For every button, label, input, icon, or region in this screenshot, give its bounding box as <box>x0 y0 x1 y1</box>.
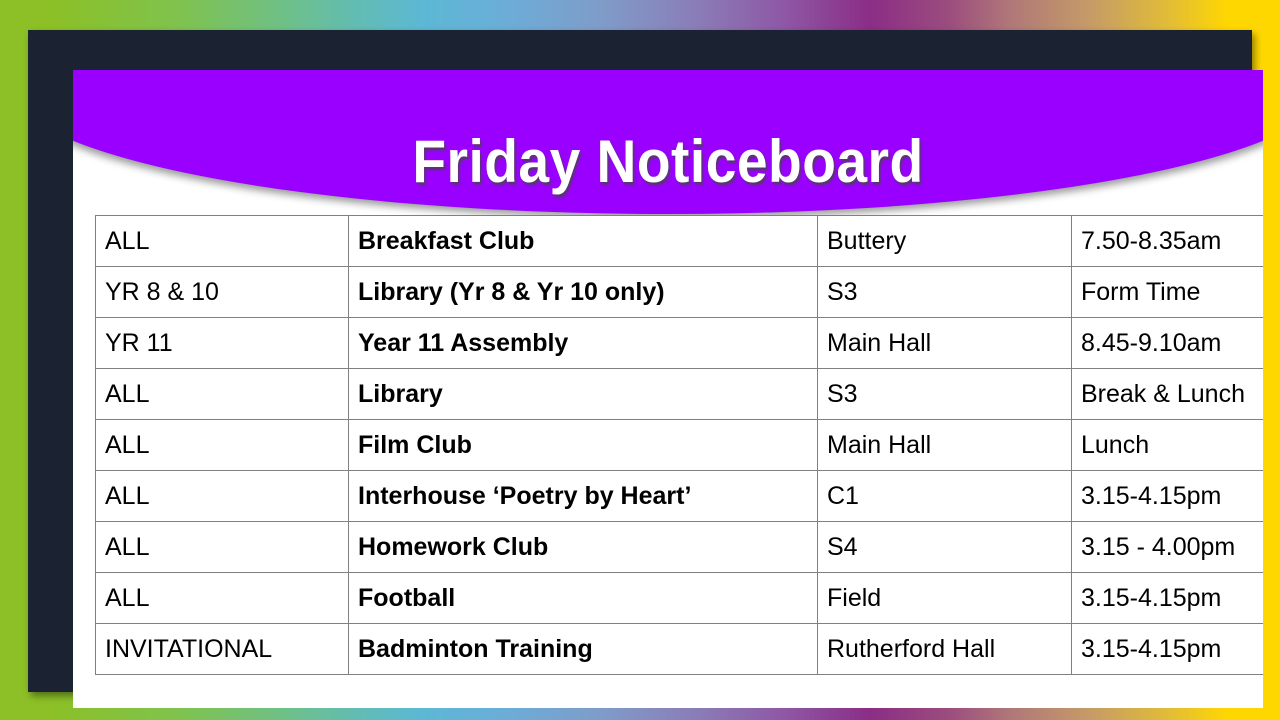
cell-activity: Badminton Training <box>349 624 818 675</box>
slide-frame: Friday Noticeboard ALL Breakfast Club Bu… <box>28 30 1252 692</box>
cell-location: Main Hall <box>818 318 1072 369</box>
cell-activity: Homework Club <box>349 522 818 573</box>
cell-group: ALL <box>96 573 349 624</box>
cell-time: Lunch <box>1072 420 1264 471</box>
cell-location: Main Hall <box>818 420 1072 471</box>
table-row: YR 8 & 10 Library (Yr 8 & Yr 10 only) S3… <box>96 267 1264 318</box>
cell-time: Break & Lunch <box>1072 369 1264 420</box>
cell-group: YR 8 & 10 <box>96 267 349 318</box>
noticeboard-table: ALL Breakfast Club Buttery 7.50-8.35am Y… <box>95 215 1263 675</box>
table-row: ALL Film Club Main Hall Lunch <box>96 420 1264 471</box>
cell-group: ALL <box>96 369 349 420</box>
cell-activity: Film Club <box>349 420 818 471</box>
cell-group: ALL <box>96 420 349 471</box>
cell-activity: Football <box>349 573 818 624</box>
cell-location: Rutherford Hall <box>818 624 1072 675</box>
cell-time: Form Time <box>1072 267 1264 318</box>
cell-group: INVITATIONAL <box>96 624 349 675</box>
page-title: Friday Noticeboard <box>73 132 1263 192</box>
cell-activity: Interhouse ‘Poetry by Heart’ <box>349 471 818 522</box>
table-row: ALL Interhouse ‘Poetry by Heart’ C1 3.15… <box>96 471 1264 522</box>
table-row: ALL Football Field 3.15-4.15pm <box>96 573 1264 624</box>
cell-group: ALL <box>96 471 349 522</box>
cell-location: C1 <box>818 471 1072 522</box>
cell-time: 8.45-9.10am <box>1072 318 1264 369</box>
table-row: ALL Breakfast Club Buttery 7.50-8.35am <box>96 216 1264 267</box>
cell-location: S4 <box>818 522 1072 573</box>
cell-time: 3.15 - 4.00pm <box>1072 522 1264 573</box>
cell-time: 3.15-4.15pm <box>1072 624 1264 675</box>
cell-time: 3.15-4.15pm <box>1072 573 1264 624</box>
cell-activity: Library <box>349 369 818 420</box>
cell-location: Buttery <box>818 216 1072 267</box>
cell-time: 3.15-4.15pm <box>1072 471 1264 522</box>
table-row: ALL Homework Club S4 3.15 - 4.00pm <box>96 522 1264 573</box>
cell-location: S3 <box>818 369 1072 420</box>
cell-activity: Breakfast Club <box>349 216 818 267</box>
cell-group: YR 11 <box>96 318 349 369</box>
slide-background: Friday Noticeboard ALL Breakfast Club Bu… <box>0 0 1280 720</box>
cell-group: ALL <box>96 522 349 573</box>
table-row: INVITATIONAL Badminton Training Rutherfo… <box>96 624 1264 675</box>
cell-time: 7.50-8.35am <box>1072 216 1264 267</box>
header-banner: Friday Noticeboard <box>73 70 1263 214</box>
table-row: YR 11 Year 11 Assembly Main Hall 8.45-9.… <box>96 318 1264 369</box>
cell-group: ALL <box>96 216 349 267</box>
table-row: ALL Library S3 Break & Lunch <box>96 369 1264 420</box>
cell-activity: Year 11 Assembly <box>349 318 818 369</box>
noticeboard-table-body: ALL Breakfast Club Buttery 7.50-8.35am Y… <box>96 216 1264 675</box>
cell-location: Field <box>818 573 1072 624</box>
cell-location: S3 <box>818 267 1072 318</box>
cell-activity: Library (Yr 8 & Yr 10 only) <box>349 267 818 318</box>
slide-page: Friday Noticeboard ALL Breakfast Club Bu… <box>73 70 1263 708</box>
